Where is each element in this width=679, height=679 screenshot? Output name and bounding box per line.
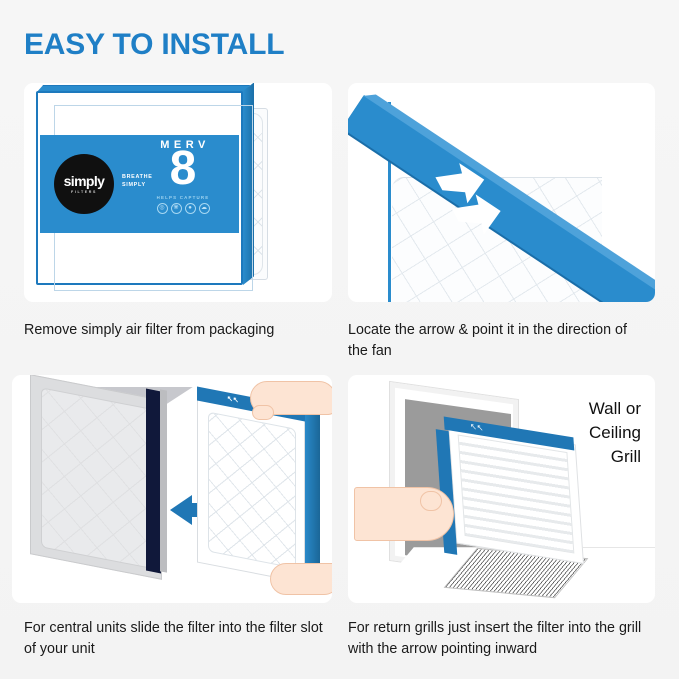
capture-icon-row: ◎ ❋ ● ☁ <box>137 203 229 214</box>
hand-upper-thumb <box>252 405 274 420</box>
helps-capture-label: HELPS CAPTURE <box>137 195 229 200</box>
smoke-icon: ☁ <box>199 203 210 214</box>
label-line-2: Ceiling <box>589 421 641 445</box>
grill-louvers <box>458 434 575 553</box>
hvac-unit-panel <box>41 387 153 569</box>
label-line-1: Wall or <box>589 397 641 421</box>
step-4-caption: For return grills just insert the filter… <box>348 618 658 659</box>
step-3-caption: For central units slide the filter into … <box>24 618 324 659</box>
filter-slot-opening <box>146 389 161 574</box>
step-4-image-panel: ↖↖ Wall or Ceiling Grill <box>348 375 655 603</box>
step-1-caption: Remove simply air filter from packaging <box>24 320 334 341</box>
step-2-image-panel <box>348 83 655 302</box>
filter-mesh-pattern <box>208 412 296 569</box>
step-2-caption: Locate the arrow & point it in the direc… <box>348 320 648 361</box>
easy-to-install-infographic: EASY TO INSTALL simply FILTERS BREATHE S… <box>0 0 679 679</box>
logo-wordmark: simply <box>64 174 105 188</box>
hand-lower <box>270 563 332 595</box>
filter-right-side-edge <box>304 393 320 585</box>
merv-rating-block: MERV 8 HELPS CAPTURE ◎ ❋ ● ☁ <box>137 139 229 214</box>
filter-edge-arrow-icon: ↗↗ <box>227 394 239 404</box>
grill-arrow-icon: ↖↖ <box>470 423 484 433</box>
step-1-image-panel: simply FILTERS BREATHE SIMPLY MERV 8 HEL… <box>24 83 332 302</box>
step-3-image-panel: ↗↗ <box>12 375 332 603</box>
carton-blue-label: simply FILTERS BREATHE SIMPLY MERV 8 HEL… <box>40 135 239 233</box>
hand-thumb <box>420 491 442 511</box>
simply-filters-logo: simply FILTERS <box>54 154 114 214</box>
merv-rating-number: 8 <box>137 149 229 190</box>
pet-dander-icon: ● <box>185 203 196 214</box>
filter-package-illustration: simply FILTERS BREATHE SIMPLY MERV 8 HEL… <box>24 83 332 302</box>
logo-subtext: FILTERS <box>71 190 97 194</box>
air-filter-being-inserted <box>197 391 305 584</box>
label-line-3: Grill <box>589 445 641 469</box>
pollen-icon: ❋ <box>171 203 182 214</box>
hvac-unit-front-face <box>30 375 162 580</box>
page-title: EASY TO INSTALL <box>24 28 284 62</box>
dust-icon: ◎ <box>157 203 168 214</box>
wall-ceiling-grill-label: Wall or Ceiling Grill <box>589 397 641 469</box>
filter-slot-edge <box>160 389 167 572</box>
